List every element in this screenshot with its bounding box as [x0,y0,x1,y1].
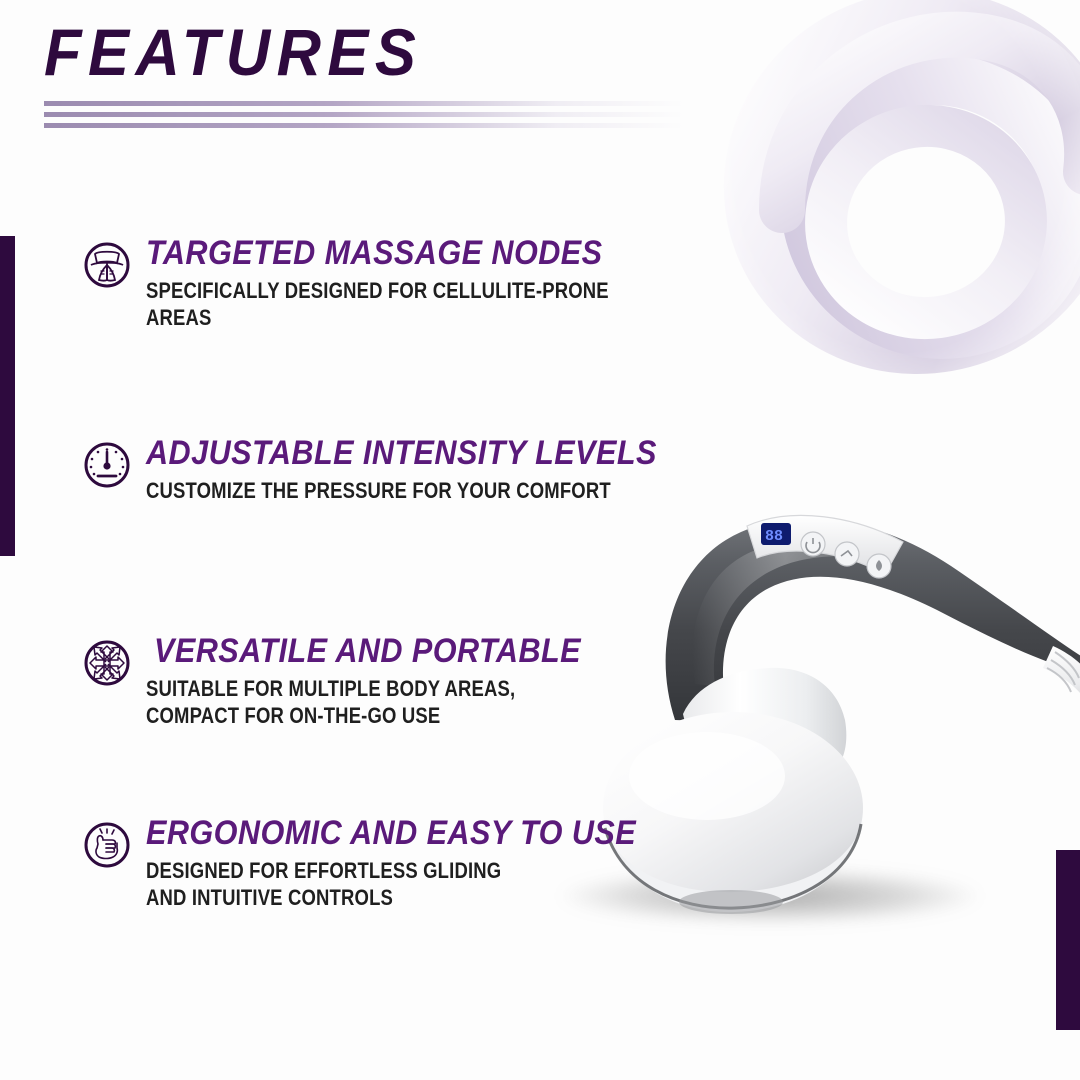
multi-direction-arrows-icon [82,638,132,688]
feature-heading: ADJUSTABLE INTENSITY LEVELS [146,436,657,472]
feature-item-ergonomic-and-easy-to-use: ERGONOMIC AND EASY TO USE DESIGNED FOR E… [82,816,691,911]
left-accent-bar [0,236,15,556]
control-panel: 88 [747,515,903,578]
feature-text: VERSATILE AND PORTABLE SUITABLE FOR MULT… [146,634,628,729]
pointing-hand-icon [82,820,132,870]
title-underline-rules [44,101,684,128]
feature-subtext: CUSTOMIZE THE PRESSURE FOR YOUR COMFORT [146,478,623,505]
title-rule-3 [44,123,684,128]
feature-heading: VERSATILE AND PORTABLE [154,634,581,670]
feature-subtext: DESIGNED FOR EFFORTLESS GLIDING AND INTU… [146,858,603,912]
title-rule-2 [44,112,684,117]
feature-item-targeted-massage-nodes: TARGETED MASSAGE NODES SPECIFICALLY DESI… [82,236,702,331]
hips-body-icon [82,240,132,290]
power-cord [1043,646,1080,714]
features-page: FEATURES [0,0,1080,1080]
right-accent-bar [1056,850,1080,1030]
feature-text: TARGETED MASSAGE NODES SPECIFICALLY DESI… [146,236,702,331]
feature-heading: TARGETED MASSAGE NODES [146,236,646,272]
svg-text:88: 88 [765,528,783,545]
feature-item-adjustable-intensity-levels: ADJUSTABLE INTENSITY LEVELS CUSTOMIZE TH… [82,436,714,505]
title-block: FEATURES [44,18,744,128]
feature-text: ADJUSTABLE INTENSITY LEVELS CUSTOMIZE TH… [146,436,714,505]
page-title: FEATURES [44,18,695,87]
title-rule-1 [44,101,684,106]
feature-text: ERGONOMIC AND EASY TO USE DESIGNED FOR E… [146,816,691,911]
speedometer-gauge-icon [82,440,132,490]
feature-subtext: SPECIFICALLY DESIGNED FOR CELLULITE-PRON… [146,278,613,332]
feature-heading: ERGONOMIC AND EASY TO USE [146,816,636,852]
abstract-swirl-decoration [690,0,1080,430]
feature-item-versatile-and-portable: VERSATILE AND PORTABLE SUITABLE FOR MULT… [82,634,628,729]
feature-subtext: SUITABLE FOR MULTIPLE BODY AREAS, COMPAC… [146,676,551,730]
